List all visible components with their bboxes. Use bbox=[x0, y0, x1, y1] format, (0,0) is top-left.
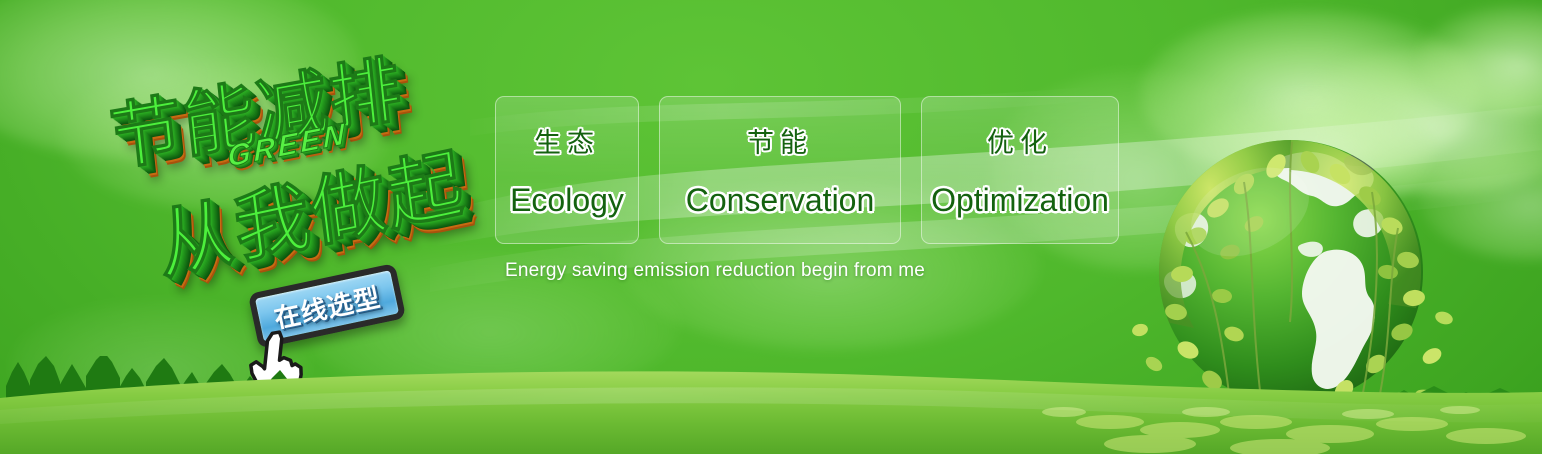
green-energy-banner: 节能减排 GREEN 从我做起 在线选型 bbox=[0, 0, 1542, 454]
clouds-icon bbox=[1140, 10, 1480, 180]
feature-card-optimization-cn: 优化 bbox=[987, 121, 1053, 160]
clouds-icon bbox=[1290, 45, 1542, 195]
feature-card-ecology[interactable]: 生态 Ecology bbox=[495, 96, 639, 244]
feature-cards: 生态 Ecology 节能 Conservation 优化 Optimizati… bbox=[495, 96, 1119, 244]
feature-card-ecology-en: Ecology bbox=[510, 182, 624, 219]
feature-card-conservation-en: Conservation bbox=[686, 182, 875, 219]
clouds-icon bbox=[0, 0, 360, 160]
feature-card-ecology-cn: 生态 bbox=[534, 121, 600, 160]
clouds-icon bbox=[1420, 140, 1542, 260]
feature-card-optimization[interactable]: 优化 Optimization bbox=[921, 96, 1119, 244]
clouds-icon bbox=[1185, 95, 1435, 215]
clouds-icon bbox=[1418, 5, 1542, 115]
banner-subtitle: Energy saving emission reduction begin f… bbox=[505, 260, 925, 282]
clouds-icon bbox=[60, 60, 390, 210]
feature-card-conservation-cn: 节能 bbox=[747, 121, 813, 160]
feature-card-optimization-en: Optimization bbox=[931, 182, 1109, 219]
feature-card-conservation[interactable]: 节能 Conservation bbox=[659, 96, 901, 244]
